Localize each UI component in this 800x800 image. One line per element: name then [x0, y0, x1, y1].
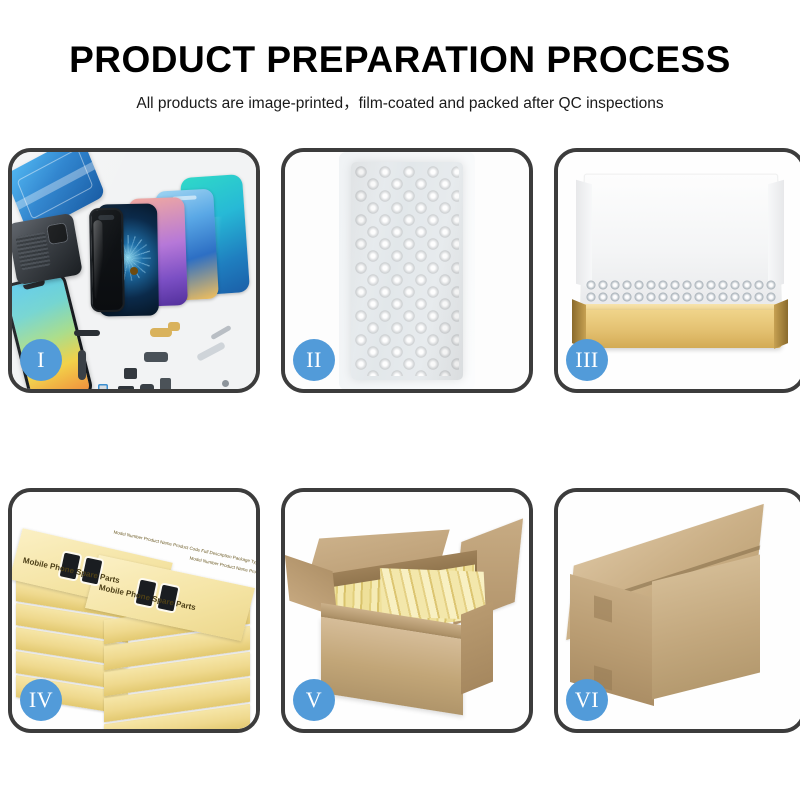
step-badge-iii: III: [566, 339, 608, 381]
screw-icon: [222, 380, 229, 387]
bubble-wrapped-product: [351, 162, 463, 380]
component-part-icon: [140, 384, 154, 389]
product-preparation-page: PRODUCT PREPARATION PROCESS All products…: [0, 0, 800, 800]
step-panel-i: I: [8, 148, 260, 393]
step-badge-v: V: [293, 679, 335, 721]
panel-shading: [351, 162, 463, 380]
component-part-icon: [144, 352, 168, 362]
sim-tray-icon: [98, 384, 108, 389]
step-panel-iii: III: [554, 148, 800, 393]
component-part-icon: [124, 368, 137, 379]
carton-face-side: [461, 602, 493, 695]
box-lid-flap-left: [576, 180, 592, 289]
step-panel-iv: Mobile Phone Spare Parts Mobile Phone Sp…: [8, 488, 260, 733]
phone-housing-icon: [12, 213, 83, 286]
box-front-kraft: [580, 310, 782, 348]
screen-glass-panel-icon: [89, 208, 125, 313]
step-panel-v: V: [281, 488, 533, 733]
step-badge-iv: IV: [20, 679, 62, 721]
page-subtitle: All products are image-printed，film-coat…: [0, 91, 800, 113]
process-step-grid: I II: [8, 148, 792, 733]
box-side-right: [774, 299, 788, 349]
flex-cable-icon: [168, 322, 180, 331]
box-lid-flap-right: [768, 180, 784, 289]
step-badge-vi: VI: [566, 679, 608, 721]
step-badge-ii: II: [293, 339, 335, 381]
page-header: PRODUCT PREPARATION PROCESS All products…: [0, 0, 800, 113]
page-title: PRODUCT PREPARATION PROCESS: [0, 40, 800, 80]
step-panel-vi: VI: [554, 488, 800, 733]
component-part-icon: [74, 330, 100, 336]
component-part-icon: [160, 378, 171, 389]
component-part-icon: [118, 386, 134, 389]
component-part-icon: [78, 350, 86, 380]
step-badge-i: I: [20, 339, 62, 381]
step-panel-ii: II: [281, 148, 533, 393]
